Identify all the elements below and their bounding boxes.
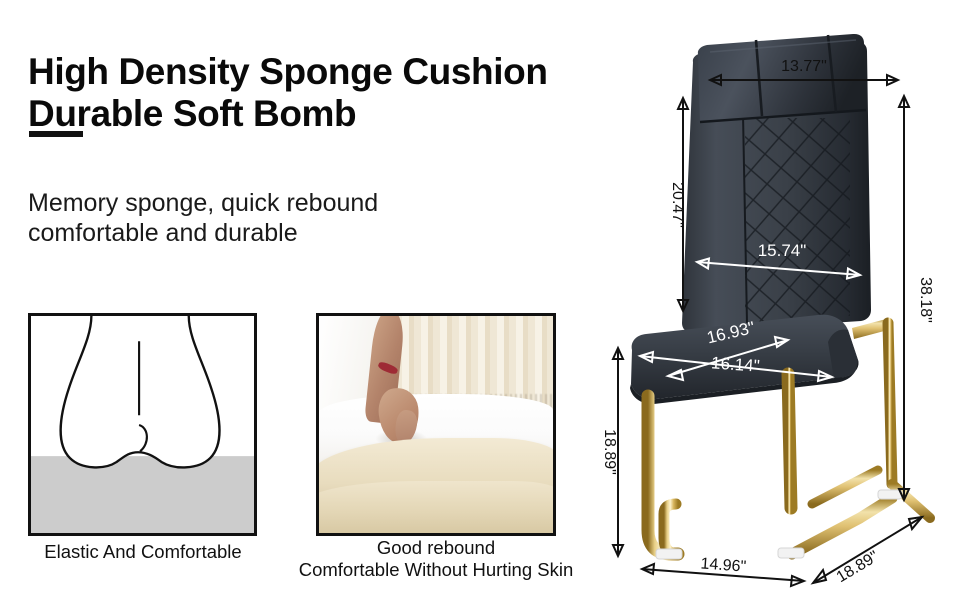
subtitle-line-1: Memory sponge, quick rebound [28,189,378,217]
caption-elastic-and-comfortable: Elastic And Comfortable [18,541,268,563]
chair-illustration [630,34,930,559]
panel-good-rebound [316,313,556,536]
caption-elastic-line-1: Elastic And Comfortable [44,541,241,562]
caption-rebound-line-2: Comfortable Without Hurting Skin [299,559,574,580]
rail-rear-right-diagonal [892,484,930,518]
dimension-base-depth-label: 18.89" [834,548,882,586]
dimension-overall-height-label: 38.18" [917,277,934,323]
dimension-seat-height: 18.89" [601,348,623,556]
leg-front-inner-loop [664,504,678,554]
dimension-seat-width-label: 16.14" [710,353,760,375]
caption-good-rebound: Good rebound Comfortable Without Hurting… [276,537,596,580]
title-divider [29,131,83,137]
chair-headrest [698,34,866,122]
memory-foam-photo [319,316,553,533]
cushion-block [31,456,254,533]
dimension-back-width-label: 13.77" [781,58,827,75]
subtitle-line-2: comfortable and durable [28,219,298,247]
leg-rear-left [788,374,791,508]
dimension-base-depth: 18.89" [813,517,922,586]
dimension-overall-height: 38.18" [899,96,934,500]
dimension-seat-height-label: 18.89" [601,429,618,475]
headline-line-1: High Density Sponge Cushion [28,51,548,92]
quilted-pattern [745,118,850,323]
panel-elastic-and-comfortable [28,313,257,536]
floor-glide-front-right [778,548,804,558]
foam-layer-bottom [316,481,556,533]
chair-dimension-diagram: 13.77" 20.47" 38.18" 15.74" [560,18,970,600]
floor-glide-front-left [656,549,682,559]
floor-glide-rear-right [878,490,902,499]
cross-brace-diagonal [812,470,878,504]
page-subtitle: Memory sponge, quick rebound comfortable… [28,189,588,248]
seated-figure-illustration [31,316,254,533]
dimension-seat-back-width-label: 15.74" [758,241,807,260]
dimension-base-width-label: 14.96" [700,555,747,575]
caption-rebound-line-1: Good rebound [377,537,495,558]
dimension-back-height-label: 20.47" [669,182,686,228]
leg-rear-right [888,323,892,484]
infographic-canvas: High Density Sponge Cushion Durable Soft… [0,0,970,600]
